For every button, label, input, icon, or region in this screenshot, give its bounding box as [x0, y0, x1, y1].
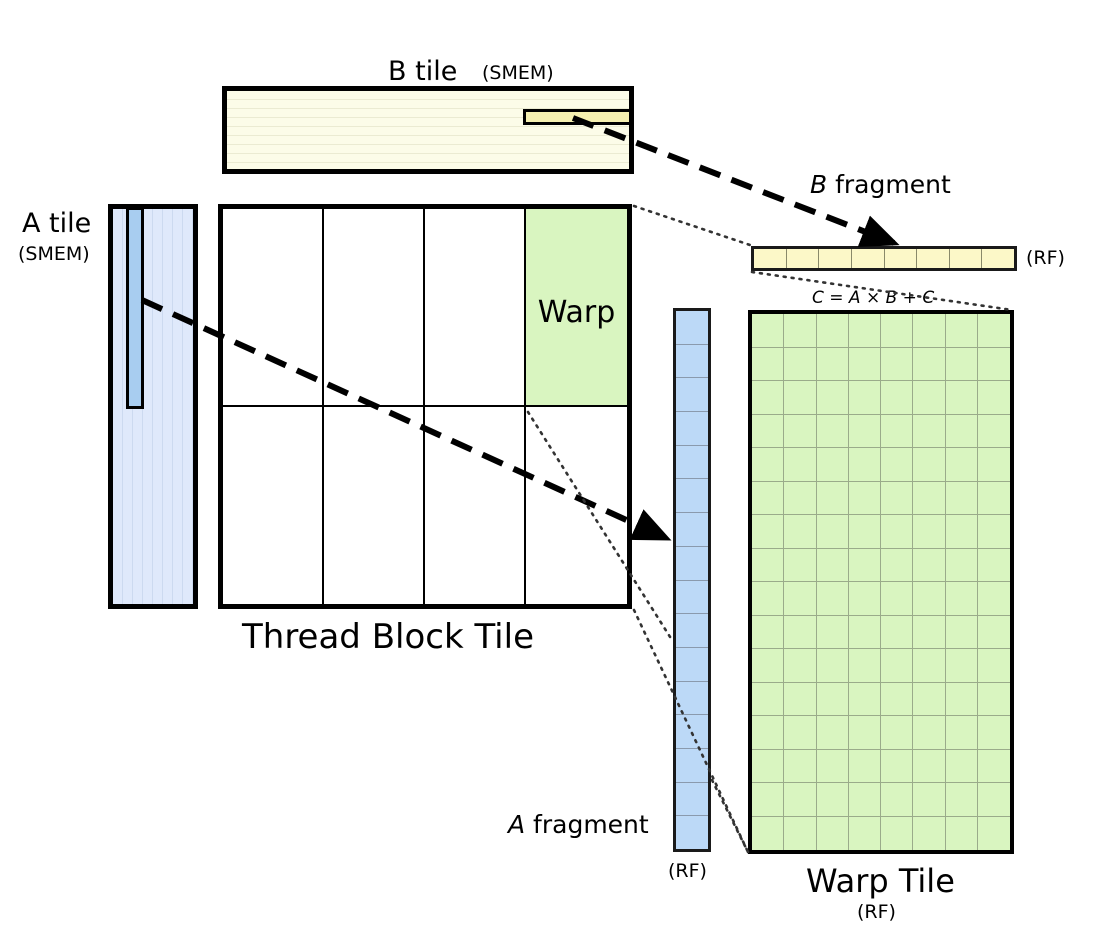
warp-tile-cell — [881, 716, 913, 750]
b-fragment-cell — [819, 249, 852, 268]
a-fragment-cell — [676, 816, 708, 849]
warp-tile-cell — [784, 649, 816, 683]
a-fragment-cell — [676, 412, 708, 446]
warp-tile-cell — [752, 750, 784, 784]
warp-tile-cell — [849, 482, 881, 516]
b-tile-smem — [222, 86, 634, 174]
diagram-canvas: B tile (SMEM) A tile (SMEM) Warp Thread … — [0, 0, 1101, 937]
warp-tile-cell — [946, 348, 978, 382]
warp-tile-cell — [978, 381, 1010, 415]
warp-tile-cell — [752, 348, 784, 382]
b-tile-label: B tile — [388, 58, 457, 85]
a-tile-highlighted-column — [126, 207, 144, 409]
warp-tile-cell — [849, 750, 881, 784]
warp-tile-cell — [752, 314, 784, 348]
warp-tile-cell — [784, 448, 816, 482]
warp-tile-cell — [752, 716, 784, 750]
a-tile-stripes — [113, 209, 193, 604]
warp-tile-cell — [849, 582, 881, 616]
warp-tile-cell — [913, 750, 945, 784]
b-fragment-word: fragment — [827, 170, 951, 199]
b-fragment-label: B fragment — [810, 172, 951, 197]
warp-tile-cell — [752, 515, 784, 549]
warp-tile-cell — [946, 616, 978, 650]
warp-tile-cell — [881, 582, 913, 616]
thread-block-cell — [223, 209, 324, 407]
warp-tile-cell — [978, 415, 1010, 449]
warp-tile-cell — [817, 515, 849, 549]
warp-tile-cell — [817, 683, 849, 717]
warp-tile-cell — [946, 482, 978, 516]
warp-tile-cell — [817, 415, 849, 449]
thread-block-cell — [425, 209, 526, 407]
a-fragment-rf-label: (RF) — [668, 862, 707, 881]
warp-tile-label: Warp Tile — [806, 865, 955, 897]
a-fragment-cell — [676, 479, 708, 513]
thread-block-cell-warp: Warp — [526, 209, 627, 407]
warp-tile-cell — [913, 314, 945, 348]
thread-block-tile-grid: Warp — [223, 209, 627, 604]
warp-tile-cell — [978, 683, 1010, 717]
thread-block-cell — [324, 209, 425, 407]
warp-tile-cell — [881, 348, 913, 382]
b-fragment-cell — [950, 249, 983, 268]
warp-tile-cell — [913, 549, 945, 583]
warp-tile-cell — [817, 482, 849, 516]
warp-tile-cell — [913, 348, 945, 382]
warp-tile-cell — [784, 348, 816, 382]
warp-tile-cell — [817, 817, 849, 851]
warp-tile-cell — [881, 750, 913, 784]
a-tile-smem — [108, 204, 198, 609]
warp-tile-cell — [978, 482, 1010, 516]
warp-tile-cell — [784, 482, 816, 516]
warp-tile-cell — [817, 783, 849, 817]
warp-tile-cell — [913, 515, 945, 549]
warp-tile-cell — [881, 649, 913, 683]
warp-tile-cell — [849, 683, 881, 717]
warp-tile-cell — [913, 683, 945, 717]
warp-tile-cell — [913, 817, 945, 851]
warp-tile-cell — [752, 415, 784, 449]
warp-tile-cell — [817, 348, 849, 382]
warp-tile-cell — [752, 482, 784, 516]
warp-tile-cell — [946, 750, 978, 784]
warp-tile-cell — [913, 448, 945, 482]
warp-tile-cell — [978, 783, 1010, 817]
b-fragment-cell — [754, 249, 787, 268]
a-fragment-cell — [676, 581, 708, 615]
a-fragment-cell — [676, 682, 708, 716]
warp-tile-cell — [946, 381, 978, 415]
thread-block-cell — [526, 407, 627, 605]
warp-tile-rf — [748, 310, 1014, 854]
a-fragment-rf — [673, 308, 711, 852]
warp-tile-cell — [881, 381, 913, 415]
warp-tile-cell — [881, 314, 913, 348]
warp-tile-cell — [817, 582, 849, 616]
b-fragment-cell — [787, 249, 820, 268]
warp-tile-cell — [978, 716, 1010, 750]
warp-tile-cell — [849, 381, 881, 415]
warp-tile-cell — [978, 649, 1010, 683]
a-fragment-cell — [676, 614, 708, 648]
a-fragment-cell — [676, 513, 708, 547]
a-tile-memory-label: (SMEM) — [18, 245, 90, 264]
a-fragment-cell — [676, 547, 708, 581]
a-fragment-cell — [676, 648, 708, 682]
warp-tile-cell — [849, 783, 881, 817]
b-tile-stripes — [227, 91, 629, 169]
warp-tile-cell — [752, 783, 784, 817]
warp-tile-cell — [946, 415, 978, 449]
warp-tile-cell — [881, 549, 913, 583]
warp-tile-cell — [784, 616, 816, 650]
warp-tile-cell — [784, 683, 816, 717]
thread-block-cell — [324, 407, 425, 605]
warp-tile-cell — [752, 616, 784, 650]
warp-tile-cell — [978, 817, 1010, 851]
a-fragment-word: fragment — [525, 810, 649, 839]
warp-tile-cell — [881, 482, 913, 516]
warp-tile-cell — [784, 582, 816, 616]
warp-tile-cell — [946, 314, 978, 348]
a-fragment-cell — [676, 446, 708, 480]
warp-tile-cell — [913, 381, 945, 415]
warp-tile-cell — [881, 783, 913, 817]
warp-tile-cell — [978, 314, 1010, 348]
b-fragment-cell — [982, 249, 1014, 268]
warp-tile-cell — [881, 448, 913, 482]
warp-tile-cell — [978, 448, 1010, 482]
warp-tile-cell — [817, 616, 849, 650]
warp-tile-cell — [913, 716, 945, 750]
warp-tile-cell — [913, 649, 945, 683]
warp-tile-cell — [978, 515, 1010, 549]
warp-tile-cell — [817, 314, 849, 348]
warp-tile-cell — [913, 582, 945, 616]
b-fragment-rf-label: (RF) — [1026, 249, 1065, 268]
warp-tile-cell — [849, 716, 881, 750]
b-fragment-cell — [852, 249, 885, 268]
warp-tile-cell — [881, 616, 913, 650]
warp-tile-cell — [752, 649, 784, 683]
warp-tile-cell — [881, 683, 913, 717]
a-fragment-cell — [676, 715, 708, 749]
warp-tile-cell — [849, 649, 881, 683]
warp-tile-cell — [946, 515, 978, 549]
a-fragment-cell — [676, 311, 708, 345]
b-fragment-cell — [885, 249, 918, 268]
warp-tile-cell — [784, 515, 816, 549]
warp-tile-cell — [784, 750, 816, 784]
warp-tile-cell — [946, 817, 978, 851]
warp-tile-cell — [881, 515, 913, 549]
warp-tile-cell — [913, 783, 945, 817]
warp-tile-cell — [817, 716, 849, 750]
warp-tile-cell — [849, 515, 881, 549]
warp-tile-cell — [849, 817, 881, 851]
warp-tile-cell — [946, 582, 978, 616]
warp-tile-cell — [849, 549, 881, 583]
warp-tile-cell — [946, 649, 978, 683]
a-fragment-cell — [676, 783, 708, 817]
warp-tile-cell — [784, 783, 816, 817]
a-fragment-cell — [676, 345, 708, 379]
warp-tile-cell — [849, 448, 881, 482]
warp-tile-grid — [752, 314, 1010, 850]
warp-tile-cell — [817, 381, 849, 415]
thread-block-tile: Warp — [218, 204, 632, 609]
warp-tile-cell — [784, 415, 816, 449]
warp-tile-cell — [946, 448, 978, 482]
warp-tile-cell — [978, 750, 1010, 784]
warp-tile-cell — [913, 415, 945, 449]
warp-tile-cell — [946, 549, 978, 583]
warp-tile-cell — [913, 616, 945, 650]
warp-tile-rf-label: (RF) — [857, 903, 896, 922]
warp-tile-cell — [784, 381, 816, 415]
warp-tile-cell — [752, 683, 784, 717]
warp-to-b-fragment-projection — [634, 206, 750, 245]
a-fragment-cell — [676, 749, 708, 783]
warp-tile-cell — [817, 448, 849, 482]
warp-tile-cell — [817, 750, 849, 784]
warp-tile-cell — [946, 716, 978, 750]
warp-tile-cell — [752, 582, 784, 616]
warp-tile-cell — [881, 415, 913, 449]
warp-tile-cell — [978, 549, 1010, 583]
warp-tile-cell — [849, 314, 881, 348]
warp-tile-cell — [946, 683, 978, 717]
warp-tile-cell — [784, 549, 816, 583]
warp-tile-cell — [817, 649, 849, 683]
a-tile-label: A tile — [22, 210, 91, 237]
warp-tile-cell — [881, 817, 913, 851]
warp-tile-cell — [784, 716, 816, 750]
thread-block-tile-label: Thread Block Tile — [242, 620, 534, 654]
warp-tile-cell — [978, 616, 1010, 650]
a-fragment-letter: A — [508, 810, 525, 839]
thread-block-cell — [425, 407, 526, 605]
warp-tile-cell — [849, 616, 881, 650]
b-fragment-cell — [917, 249, 950, 268]
b-tile-highlighted-row — [523, 109, 632, 125]
thread-block-cell — [223, 407, 324, 605]
warp-tile-cell — [978, 348, 1010, 382]
warp-tile-cell — [784, 314, 816, 348]
a-fragment-cell — [676, 378, 708, 412]
warp-tile-cell — [849, 348, 881, 382]
warp-tile-cell — [946, 783, 978, 817]
warp-tile-cell — [978, 582, 1010, 616]
warp-tile-cell — [913, 482, 945, 516]
warp-tile-cell — [752, 817, 784, 851]
b-tile-memory-label: (SMEM) — [482, 64, 554, 83]
b-fragment-letter: B — [810, 170, 827, 199]
warp-tile-cell — [784, 817, 816, 851]
a-fragment-to-warp-tile-projection — [712, 780, 748, 852]
a-fragment-label: A fragment — [508, 812, 649, 837]
warp-tile-cell — [752, 549, 784, 583]
mma-equation-label: C = A × B + C — [812, 290, 934, 307]
warp-tile-cell — [752, 381, 784, 415]
b-fragment-rf — [751, 246, 1017, 271]
warp-tile-cell — [752, 448, 784, 482]
warp-tile-cell — [849, 415, 881, 449]
warp-cell-label: Warp — [526, 295, 627, 330]
warp-tile-cell — [817, 549, 849, 583]
